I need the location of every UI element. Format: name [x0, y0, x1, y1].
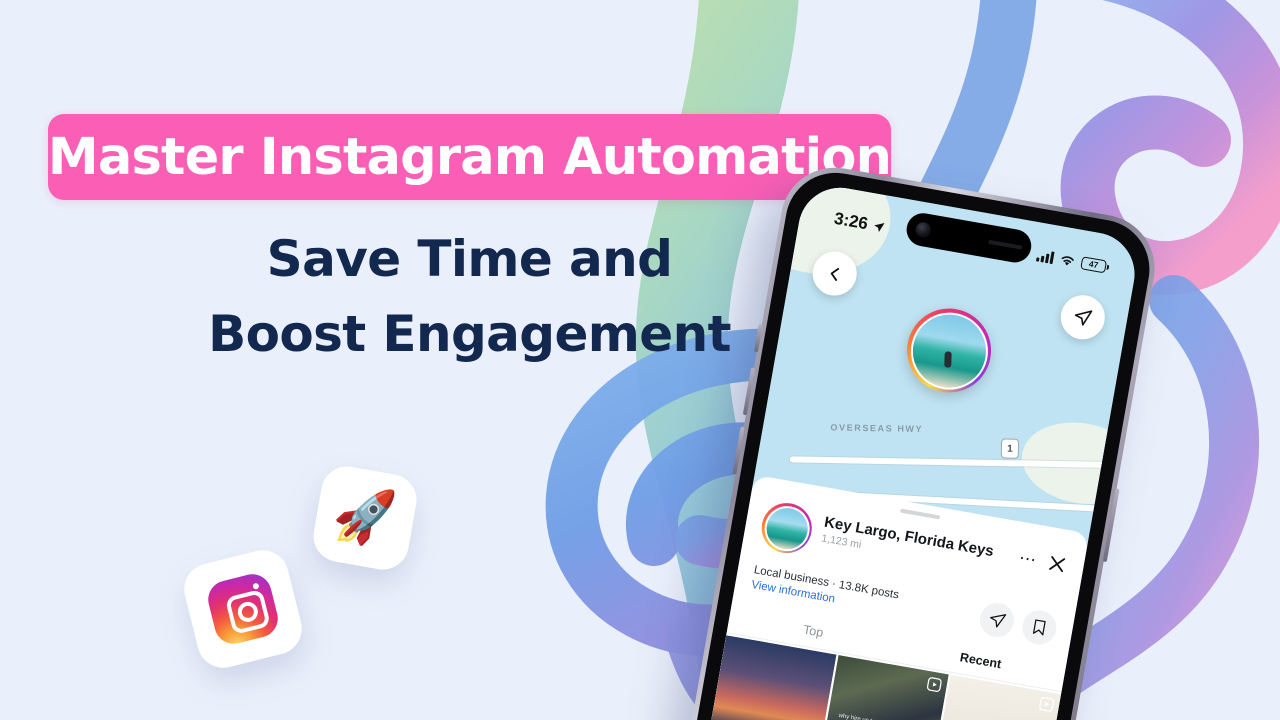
headline-banner: Master Instagram Automation: [48, 114, 891, 200]
headline-text: Master Instagram Automation: [48, 132, 891, 183]
rocket-app-card[interactable]: 🚀: [309, 462, 420, 573]
navigation-arrow-icon: [1071, 306, 1094, 329]
status-indicators: 47: [1036, 248, 1107, 273]
route-shield: 1: [1001, 438, 1019, 458]
location-avatar[interactable]: [758, 499, 816, 557]
reel-icon: [926, 676, 943, 693]
subheadline-line-1: Save Time and: [48, 222, 891, 297]
location-arrow-icon: [872, 219, 887, 234]
instagram-icon: [204, 570, 282, 648]
save-button[interactable]: [1020, 608, 1059, 647]
share-icon: [987, 610, 1007, 630]
instagram-app-card[interactable]: [179, 545, 307, 673]
battery-icon: 47: [1080, 256, 1107, 273]
close-icon[interactable]: [1045, 552, 1069, 576]
status-time-group: 3:26: [832, 209, 887, 238]
road-label: OVERSEAS HWY: [830, 422, 923, 434]
battery-level: 47: [1088, 259, 1099, 270]
promo-graphic: Master Instagram Automation Save Time an…: [0, 0, 1280, 720]
rocket-icon: 🚀: [332, 491, 399, 545]
front-camera-icon: [914, 221, 931, 238]
island-sensor: [988, 239, 1022, 249]
wifi-icon: [1059, 252, 1077, 268]
chevron-left-icon: [825, 264, 845, 284]
reel-icon: [1038, 696, 1055, 713]
more-dots-icon[interactable]: ⋯: [1018, 549, 1039, 569]
cellular-signal-icon: [1036, 248, 1055, 264]
share-button[interactable]: [977, 600, 1016, 639]
status-time: 3:26: [832, 209, 869, 235]
bookmark-icon: [1030, 618, 1049, 637]
